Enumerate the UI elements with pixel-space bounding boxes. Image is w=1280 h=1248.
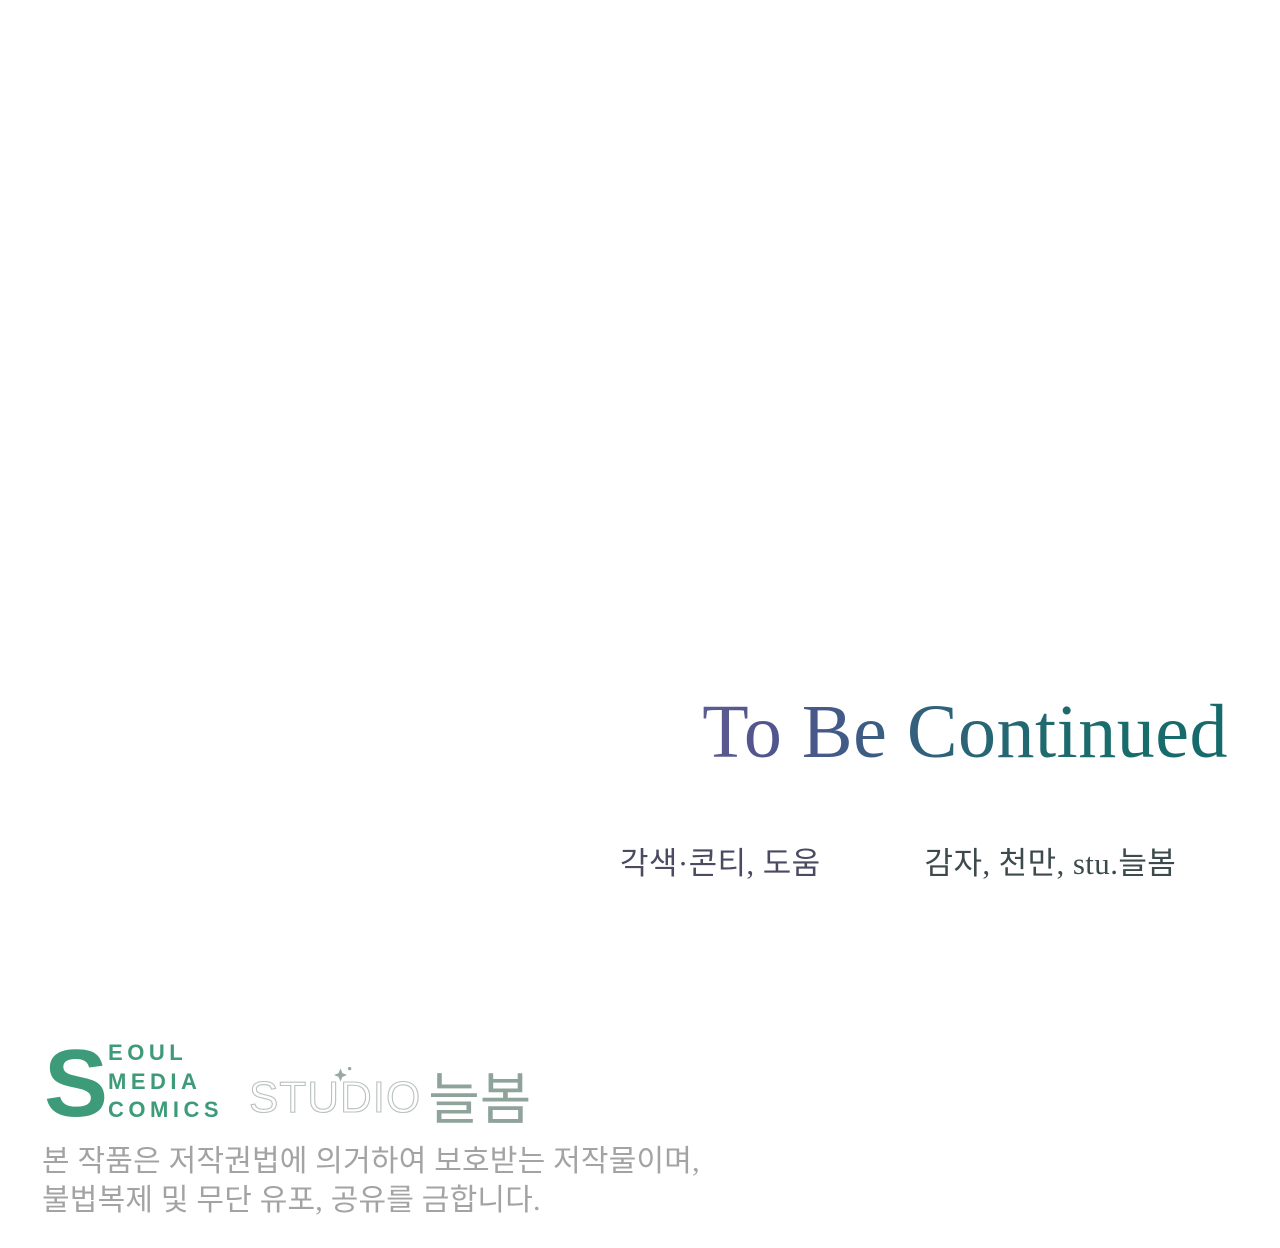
copyright-notice: 본 작품은 저작권법에 의거하여 보호받는 저작물이며, 불법복제 및 무단 유…	[42, 1142, 700, 1220]
studio-korean-wordmark: 늘봄	[428, 1072, 531, 1128]
page-title: To Be Continued	[702, 694, 1228, 770]
seoul-media-comics-logo: S EOUL MEDIA COMICS	[44, 1036, 223, 1128]
seoul-media-comics-wordmark: EOUL MEDIA COMICS	[108, 1039, 223, 1125]
logo-line-media: MEDIA	[108, 1068, 223, 1097]
title-container: To Be Continued	[0, 694, 1254, 770]
credit-names-value: 감자, 천만, stu.늘봄	[925, 838, 1177, 883]
logo-row: S EOUL MEDIA COMICS STUDIO 늘봄	[44, 1036, 531, 1128]
logo-line-comics: COMICS	[108, 1096, 223, 1125]
credit-entry: 각색·콘티, 도움 감자, 천만, stu.늘봄	[620, 838, 1176, 883]
studio-wordmark: STUDIO	[249, 1076, 421, 1120]
copyright-line-2: 불법복제 및 무단 유포, 공유를 금합니다.	[42, 1181, 700, 1220]
copyright-line-1: 본 작품은 저작권법에 의거하여 보호받는 저작물이며,	[42, 1142, 700, 1181]
endcard-page: To Be Continued 각색·콘티, 도움 감자, 천만, stu.늘봄…	[0, 0, 1280, 1248]
studio-neulbom-logo: STUDIO 늘봄	[249, 1068, 531, 1128]
seoul-monogram-icon: S	[44, 1047, 108, 1122]
credit-roles-label: 각색·콘티, 도움	[620, 838, 821, 883]
credits-row: 각색·콘티, 도움 감자, 천만, stu.늘봄	[620, 838, 1240, 883]
logo-line-eoul: EOUL	[108, 1039, 223, 1068]
